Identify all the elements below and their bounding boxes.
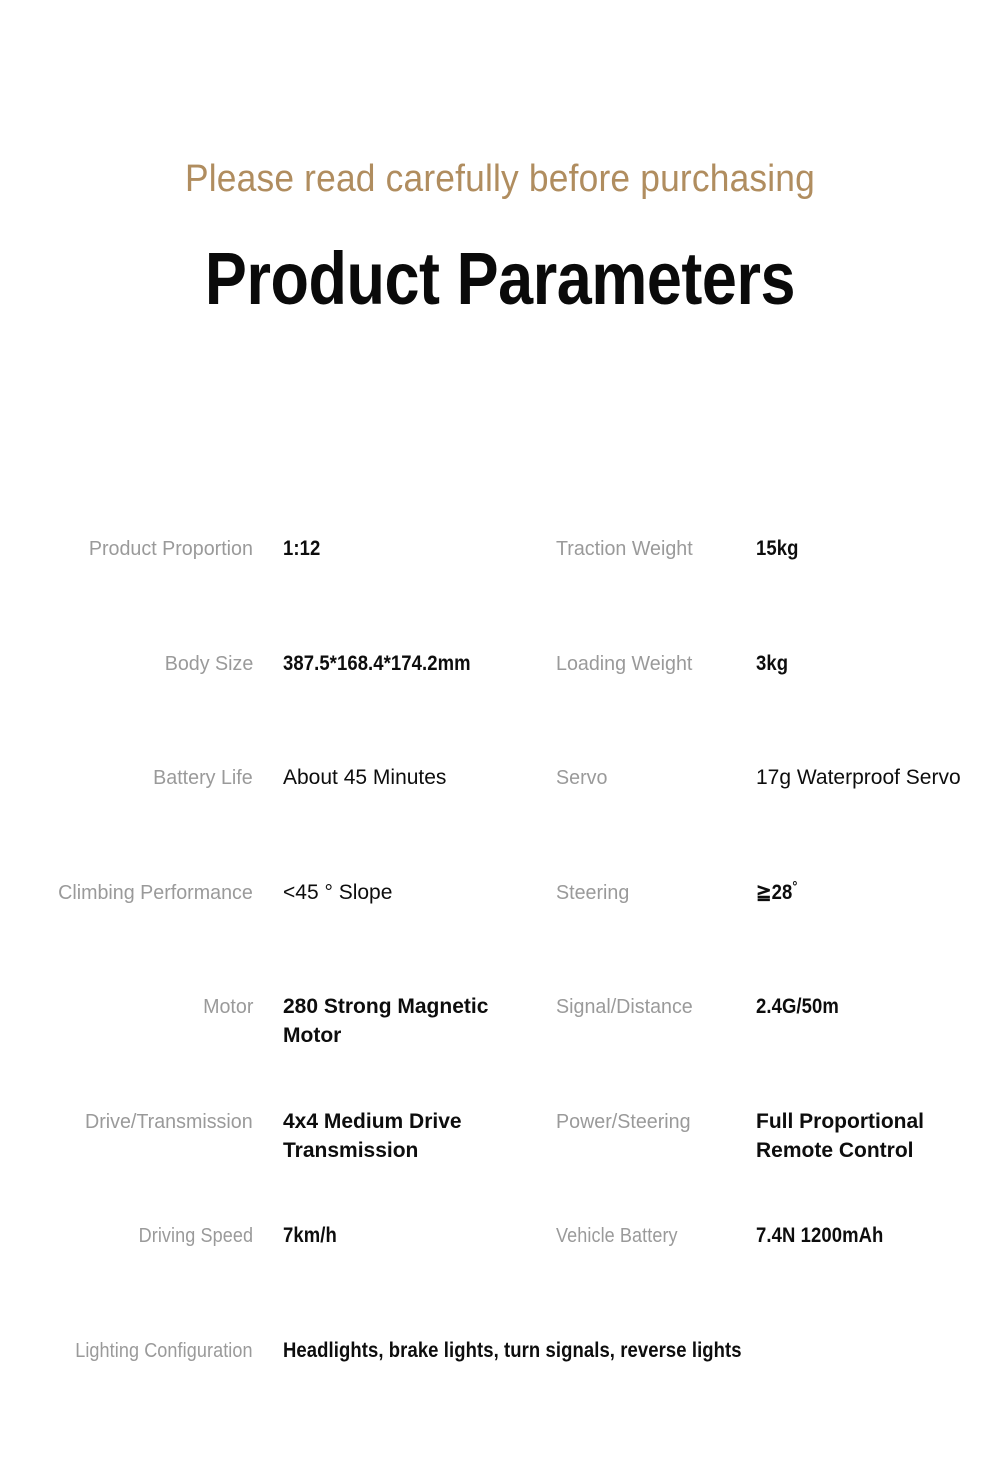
spec-label: Climbing Performance — [58, 878, 253, 907]
table-row-lighting-configuration: Lighting Configuration Headlights, brake… — [0, 1322, 1000, 1412]
spec-label: Vehicle Battery — [556, 1221, 678, 1250]
spec-label: Drive/Transmission — [85, 1107, 253, 1136]
product-parameters-table: Product Proportion 1:12 Traction Weight … — [0, 520, 1000, 1412]
spec-label: Body Size — [164, 649, 253, 678]
spec-label: Motor — [203, 992, 253, 1021]
spec-value: 7km/h — [283, 1221, 485, 1250]
spec-label: Signal/Distance — [556, 992, 693, 1021]
spec-label: Loading Weight — [556, 649, 692, 678]
spec-label: Servo — [556, 763, 607, 792]
spec-value: 7.4N 1200mAh — [756, 1221, 971, 1250]
spec-value: 1:12 — [283, 534, 485, 563]
table-row: Motor 280 Strong Magnetic Motor Signal/D… — [0, 978, 1000, 1093]
spec-value: 2.4G/50m — [756, 992, 971, 1021]
table-row: Battery Life About 45 Minutes Servo 17g … — [0, 749, 1000, 864]
spec-value-text: ≧28 — [756, 881, 792, 904]
table-row: Climbing Performance <45 ° Slope Steerin… — [0, 864, 1000, 979]
spec-label: Steering — [556, 878, 629, 907]
spec-value: ≧28° — [756, 878, 971, 907]
page-title: Product Parameters — [75, 238, 925, 321]
table-row: Product Proportion 1:12 Traction Weight … — [0, 520, 1000, 635]
spec-label: Power/Steering — [556, 1107, 691, 1136]
spec-value: 280 Strong Magnetic Motor — [283, 992, 513, 1050]
spec-value: About 45 Minutes — [283, 763, 513, 792]
spec-value: <45 ° Slope — [283, 878, 513, 907]
spec-label: Product Proportion — [89, 534, 253, 563]
spec-value: 3kg — [756, 649, 971, 678]
spec-value: 17g Waterproof Servo — [756, 763, 1000, 792]
table-row: Drive/Transmission 4x4 Medium Drive Tran… — [0, 1093, 1000, 1208]
spec-label: Traction Weight — [556, 534, 693, 563]
spec-value: 15kg — [756, 534, 971, 563]
page-subtitle: Please read carefully before purchasing — [35, 158, 965, 202]
spec-label: Lighting Configuration — [76, 1336, 253, 1365]
table-row: Driving Speed 7km/h Vehicle Battery 7.4N… — [0, 1207, 1000, 1322]
spec-label: Driving Speed — [139, 1221, 253, 1250]
degree-symbol: ° — [792, 879, 797, 895]
spec-value: Full Proportional Remote Control — [756, 1107, 1000, 1165]
spec-label: Battery Life — [153, 763, 253, 792]
spec-value: Headlights, brake lights, turn signals, … — [283, 1336, 899, 1365]
table-row: Body Size 387.5*168.4*174.2mm Loading We… — [0, 635, 1000, 750]
spec-value: 4x4 Medium Drive Transmission — [283, 1107, 513, 1165]
spec-value: 387.5*168.4*174.2mm — [283, 649, 547, 678]
